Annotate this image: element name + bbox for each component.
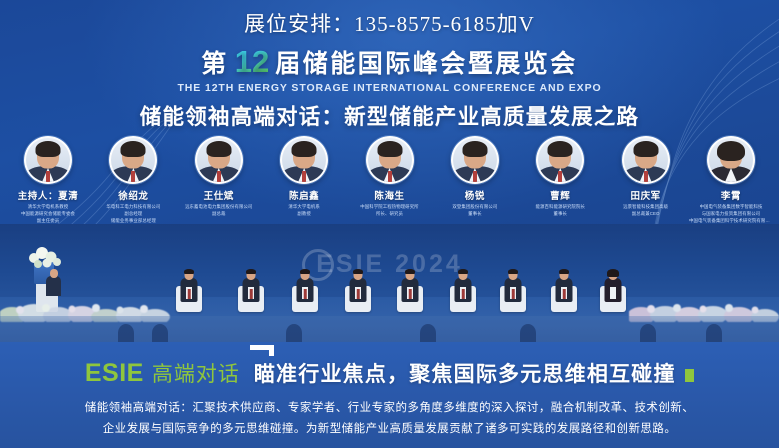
conference-title-block: 第 12 届储能国际峰会暨展览会 THE 12TH ENERGY STORAGE… [0,46,779,94]
speaker-card: 杨锐 双登集团股份有限公司 董事长 [433,136,517,218]
org-line: 与国家电力投资集团有限公司 [689,211,773,218]
quote-wrapper: 瞄准行业焦点，聚焦国际多元思维相互碰撞 [254,358,694,388]
avatar [109,136,157,184]
speaker-card: 主持人：夏清 清华大学电机系教授 中国能源研究会储能专委会 副主任委员 [6,136,90,224]
org-line: 远景智能科技集团高级 [604,204,688,211]
speaker-name: 王仕斌 [177,188,261,202]
speaker-card: 曹辉 能源百科能源研究院院长 董事长 [518,136,602,218]
esie-logo: ESIE [85,359,144,388]
avatar [707,136,755,184]
title-prefix: 第 [201,51,229,77]
session-headline: 储能领袖高端对话：新型储能产业高质量发展之路 [0,100,779,131]
esie-dialogue-label: 高端对话 [152,358,240,388]
org-line: 双登集团股份有限公司 [433,204,517,211]
org-line: 中国科学院工程热物理研究所 [348,204,432,211]
stage-backdrop-text: ESIE 2024 [316,250,463,279]
avatar [622,136,670,184]
avatar [280,136,328,184]
org-line: 副总经理 [91,211,175,218]
quote-end-accent-icon [685,369,694,382]
stage-panel-photo: ESIE 2024 [0,224,779,342]
description-block: 储能领袖高端对话：汇聚技术供应商、专家学者、行业专家的多角度多维度的深入探讨，融… [0,398,779,441]
speaker-card: 陈启鑫 清华大学电机系 副教授 [262,136,346,218]
speaker-name: 杨锐 [433,188,517,202]
org-line: 中国能源研究会储能专委会 [6,211,90,218]
speaker-name: 曹辉 [518,188,602,202]
speaker-name: 徐绍龙 [91,188,175,202]
quote-mark-icon [250,345,274,356]
description-line: 企业发展与国际竞争的多元思维碰撞。为新型储能产业高质量发展贡献了诸多可实践的发展… [0,419,779,440]
speaker-org: 双登集团股份有限公司 董事长 [433,204,517,218]
booth-arrangement-banner: 展位安排：135-8575-6185加V [0,8,779,38]
speaker-card: 徐绍龙 华电科工电力科技有限公司 副总经理 储能业务事业部总经理 [91,136,175,224]
speaker-name: 陈海生 [348,188,432,202]
speaker-org: 中国电气装备集团数字智能科技 与国家电力投资集团有限公司 中国电气装备集团科学技… [689,204,773,224]
speaker-card: 陈海生 中国科学院工程热物理研究所 所长、研究员 [348,136,432,218]
podium-bouquet [28,246,62,268]
speaker-org: 华电科工电力科技有限公司 副总经理 储能业务事业部总经理 [91,204,175,224]
speaker-org: 清华大学电机系 副教授 [262,204,346,218]
avatar [536,136,584,184]
conference-title-en: THE 12TH ENERGY STORAGE INTERNATIONAL CO… [0,82,779,94]
org-line: 能源百科能源研究院院长 [518,204,602,211]
org-line: 清华大学电机系 [262,204,346,211]
speaker-card: 李霄 中国电气装备集团数字智能科技 与国家电力投资集团有限公司 中国电气装备集团… [689,136,773,224]
speaker-org: 中国科学院工程热物理研究所 所长、研究员 [348,204,432,218]
quote-text: 瞄准行业焦点，聚焦国际多元思维相互碰撞 [254,363,676,386]
bottom-summary-band: ESIE 高端对话 瞄准行业焦点，聚焦国际多元思维相互碰撞 储能领袖高端对话：汇… [0,342,779,448]
org-line: 副总裁 [177,211,261,218]
org-line: 所长、研究员 [348,211,432,218]
avatar [451,136,499,184]
speaker-name: 主持人：夏清 [6,188,90,202]
org-line: 副教授 [262,211,346,218]
avatar [195,136,243,184]
description-line: 储能领袖高端对话：汇聚技术供应商、专家学者、行业专家的多角度多维度的深入探讨，融… [0,398,779,419]
speakers-row: 主持人：夏清 清华大学电机系教授 中国能源研究会储能专委会 副主任委员 徐绍龙 … [6,136,773,224]
speaker-org: 远景智能科技集团高级 副总裁兼CEO [604,204,688,218]
speaker-card: 王仕斌 远东蓄电池电力集团股份有限公司 副总裁 [177,136,261,218]
org-line: 华电科工电力科技有限公司 [91,204,175,211]
speaker-card: 田庆军 远景智能科技集团高级 副总裁兼CEO [604,136,688,218]
title-suffix: 届储能国际峰会暨展览会 [275,51,578,77]
speaker-name: 田庆军 [604,188,688,202]
org-line: 清华大学电机系教授 [6,204,90,211]
speaker-org: 能源百科能源研究院院长 董事长 [518,204,602,218]
avatar [24,136,72,184]
conference-title-cn: 第 12 届储能国际峰会暨展览会 [0,46,779,79]
speaker-name: 李霄 [689,188,773,202]
org-line: 董事长 [433,211,517,218]
audience-silhouettes [0,316,779,342]
org-line: 中国电气装备集团数字智能科技 [689,204,773,211]
org-line: 董事长 [518,211,602,218]
org-line: 副总裁兼CEO [604,211,688,218]
avatar [366,136,414,184]
speaker-org: 清华大学电机系教授 中国能源研究会储能专委会 副主任委员 [6,204,90,224]
org-line: 远东蓄电池电力集团股份有限公司 [177,204,261,211]
edition-number: 12 [232,46,272,79]
speaker-name: 陈启鑫 [262,188,346,202]
conference-poster: 展位安排：135-8575-6185加V 第 12 届储能国际峰会暨展览会 TH… [0,0,779,448]
esie-dialogue-row: ESIE 高端对话 瞄准行业焦点，聚焦国际多元思维相互碰撞 [0,358,779,388]
speaker-org: 远东蓄电池电力集团股份有限公司 副总裁 [177,204,261,218]
